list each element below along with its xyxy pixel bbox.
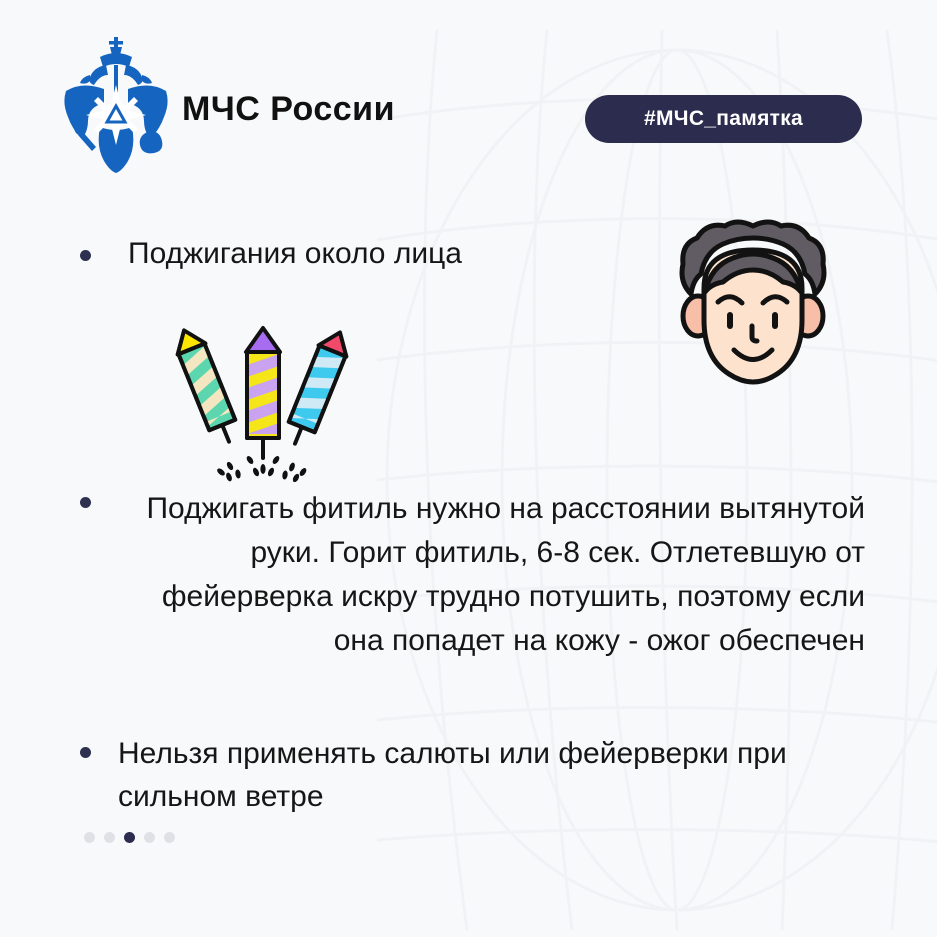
page-title: МЧС России: [182, 90, 395, 129]
carousel-dot-3[interactable]: [124, 832, 135, 843]
bullet-text-1: Поджигания около лица: [128, 234, 462, 273]
bullet-text-3: Нельзя применять салюты или фейерверки п…: [118, 733, 838, 818]
smiling-face-icon: [650, 208, 855, 398]
bullet-marker-3: [80, 747, 91, 758]
bullet-text-2: Поджигать фитиль нужно на расстоянии выт…: [120, 487, 865, 663]
header: МЧС России #МЧС_памятка: [0, 0, 937, 190]
carousel-dot-1[interactable]: [84, 832, 95, 843]
carousel-pagination[interactable]: [84, 832, 175, 843]
fireworks-rockets-icon: [172, 322, 352, 482]
hashtag-badge[interactable]: #МЧС_памятка: [585, 95, 862, 143]
carousel-dot-2[interactable]: [104, 832, 115, 843]
carousel-dot-5[interactable]: [164, 832, 175, 843]
carousel-dot-4[interactable]: [144, 832, 155, 843]
bullet-marker-1: [80, 250, 91, 261]
bullet-marker-2: [80, 497, 91, 508]
mchs-emblem-icon: [60, 35, 172, 175]
poster-canvas: МЧС России #МЧС_памятка Поджигания около…: [0, 0, 937, 937]
